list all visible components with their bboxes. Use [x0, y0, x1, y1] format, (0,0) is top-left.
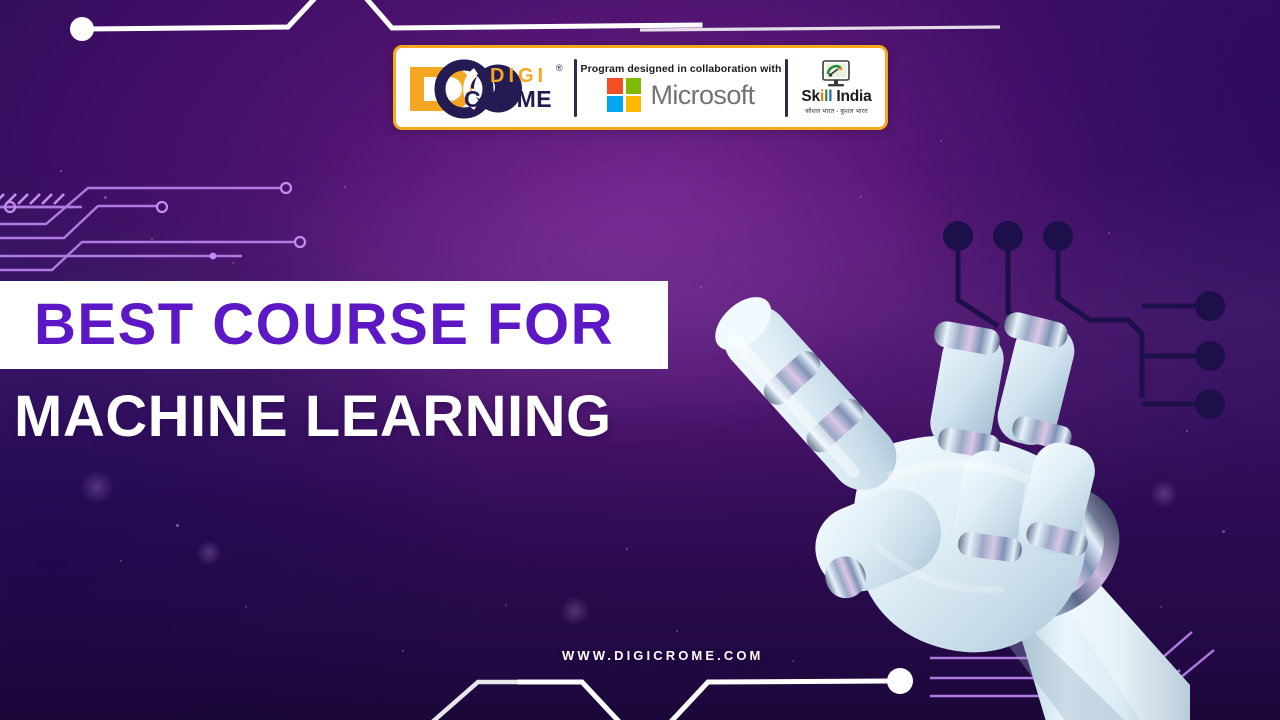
robotic-hand-image — [720, 215, 1280, 720]
skill-india-india: India — [832, 88, 871, 105]
skill-india-wordmark: Skill India — [801, 89, 871, 105]
headline-line-2: MACHINE LEARNING — [14, 388, 612, 446]
website-url-text[interactable]: WWW.DIGICROME.COM — [562, 648, 763, 663]
skill-india-logo[interactable]: Skill India कौशल भारत - कुशल भारत — [788, 48, 885, 127]
headline-white-band: BEST COURSE FOR — [0, 281, 668, 369]
microsoft-logo-block[interactable]: Program designed in collaboration with M… — [577, 48, 785, 127]
registered-trademark-icon: ® — [556, 63, 563, 73]
circuit-node-dot — [70, 17, 94, 41]
svg-text:CROME: CROME — [464, 86, 552, 112]
microsoft-caption: Program designed in collaboration with — [581, 63, 782, 75]
circuit-left-lilac — [0, 176, 336, 286]
skill-india-monitor-icon — [821, 60, 851, 88]
skill-india-subtitle: कौशल भारत - कुशल भारत — [805, 106, 868, 115]
headline-line-1: BEST COURSE FOR — [0, 296, 614, 354]
partner-badge-bar: DIGI CROME ® Program designed in collabo… — [393, 45, 888, 130]
promotional-banner: DIGI CROME ® Program designed in collabo… — [0, 0, 1280, 720]
circuit-bottom-left-white — [0, 678, 560, 720]
svg-text:DIGI: DIGI — [490, 65, 547, 87]
microsoft-tiles-icon — [607, 78, 641, 112]
skill-india-sk: Sk — [801, 88, 820, 105]
digicrome-logo[interactable]: DIGI CROME ® — [396, 48, 574, 127]
microsoft-wordmark: Microsoft — [650, 80, 754, 111]
